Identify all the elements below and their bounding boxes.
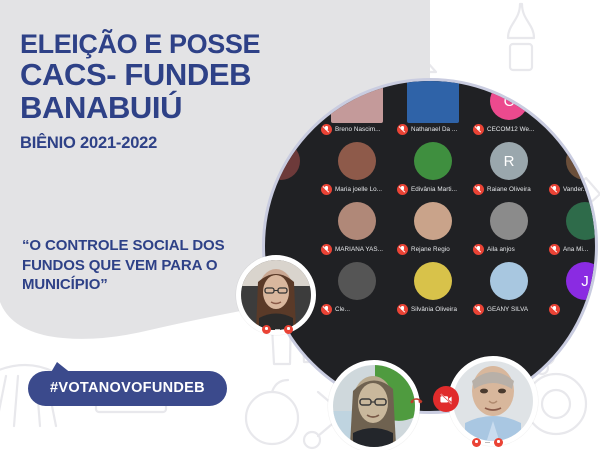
participant-name: Silvânia Oliveira [411, 306, 457, 313]
participant-namebar: MARIANA YAS... [319, 244, 395, 255]
mic-muted-icon [321, 124, 332, 135]
participant-name: Cle... [335, 306, 350, 313]
participant-tile[interactable]: Aila anjos [471, 198, 547, 258]
participant-namebar: Breno Nascim... [319, 124, 395, 135]
participant-tile[interactable]: GEANY SILVA [471, 258, 547, 318]
mic-muted-icon [473, 244, 484, 255]
speaker-bubble-right[interactable] [448, 356, 538, 446]
participant-tile[interactable]: MARIANA YAS... [319, 198, 395, 258]
hashtag-bubble[interactable]: #VOTANOVOFUNDEB [28, 371, 227, 406]
camera-off-icon [439, 392, 453, 406]
participant-name: Aila anjos [487, 246, 515, 253]
mic-muted-icon [549, 184, 560, 195]
participant-namebar: Cle... [319, 304, 395, 315]
mic-muted-icon [321, 184, 332, 195]
speaker-portrait-right [453, 361, 533, 441]
participant-tile[interactable]: Edivânia Marti... [395, 138, 471, 198]
title-block: ELEIÇÃO E POSSE CACS- FUNDEB BANABUIÚ BI… [20, 30, 300, 153]
mic-muted-icon [473, 124, 484, 135]
participant-tile[interactable]: C CECOM12 We... [471, 78, 547, 138]
hangup-button[interactable] [408, 391, 425, 408]
participant-namebar: Silvânia Oliveira [395, 304, 471, 315]
participant-namebar: Raiane Oliveira [471, 184, 547, 195]
poster-canvas: ...ousa Breno Nascim... Nathanael Da ... [0, 0, 600, 450]
participant-name: Raiane Oliveira [487, 186, 531, 193]
camera-off-button[interactable] [433, 386, 459, 412]
hashtag-label: #VOTANOVOFUNDEB [28, 371, 227, 406]
mic-muted-icon [321, 304, 332, 315]
title-line-1: ELEIÇÃO E POSSE [20, 30, 300, 58]
participant-tile[interactable]: Breno Nascim... [319, 78, 395, 138]
participant-avatar [490, 202, 528, 240]
participant-name: Ana Mi... [563, 246, 588, 253]
participant-row: ...ma Maria joelle Lo... Edivânia Marti.… [262, 138, 598, 198]
participant-tile[interactable]: Nathanael Da ... [395, 78, 471, 138]
participant-tile[interactable]: Maria joelle Lo... [319, 138, 395, 198]
participant-avatar [407, 79, 459, 123]
mic-muted-icon [321, 244, 332, 255]
mic-muted-icon [472, 438, 481, 447]
participant-tile[interactable]: J [547, 258, 598, 318]
participant-namebar: Rejane Regio [395, 244, 471, 255]
participant-namebar: Ana Mi... [547, 244, 598, 255]
participant-name: Edivânia Marti... [411, 186, 457, 193]
participant-avatar [566, 202, 598, 240]
participant-tile[interactable]: Cle... [319, 258, 395, 318]
speaker-bubble-left[interactable] [236, 255, 316, 335]
participant-namebar: Aila anjos [471, 244, 547, 255]
camera-muted-icon [284, 325, 293, 334]
participant-name: Nathanael Da ... [411, 126, 457, 133]
participant-name: Vander... [563, 186, 588, 193]
participant-name: Maria joelle Lo... [335, 186, 382, 193]
participant-avatar-initial: R [490, 142, 528, 180]
speaker-portrait-left [241, 260, 311, 330]
participant-namebar: CECOM12 We... [471, 124, 547, 135]
participant-tile[interactable]: Ana Mi... [547, 198, 598, 258]
mic-muted-icon [549, 244, 560, 255]
mic-muted-icon [397, 304, 408, 315]
participant-tile[interactable]: Vander... [547, 138, 598, 198]
participant-namebar [547, 304, 598, 315]
participant-name: Breno Nascim... [335, 126, 381, 133]
title-line-3: BANABUIÚ [20, 92, 300, 124]
participant-avatar [338, 262, 376, 300]
participant-avatar [338, 142, 376, 180]
participant-namebar: Edivânia Marti... [395, 184, 471, 195]
mic-muted-icon [473, 304, 484, 315]
mic-muted-icon [549, 124, 560, 135]
participant-namebar: Nathanael Da ... [395, 124, 471, 135]
mic-muted-icon [549, 304, 560, 315]
participant-namebar: Vander... [547, 184, 598, 195]
participant-avatar [338, 202, 376, 240]
participant-avatar [490, 262, 528, 300]
participant-name: GEANY SILVA [487, 306, 528, 313]
subtitle: BIÊNIO 2021-2022 [20, 134, 300, 153]
participant-avatar [566, 82, 598, 120]
participant-tile[interactable]: Rejane Regio [395, 198, 471, 258]
participant-avatar [414, 202, 452, 240]
participant-name: CECOM12 We... [487, 126, 534, 133]
participant-namebar: Maria joelle Lo... [319, 184, 395, 195]
participant-name: Rejane Regio [411, 246, 450, 253]
participant-namebar [547, 124, 598, 135]
participant-row: MARIANA YAS... Rejane Regio Aila anjos [262, 198, 598, 258]
camera-muted-icon [494, 438, 503, 447]
speaker-right-status-dots [472, 438, 503, 447]
participant-tile[interactable] [547, 78, 598, 138]
participant-name: MARIANA YAS... [335, 246, 383, 253]
participant-avatar [414, 142, 452, 180]
mic-muted-icon [397, 184, 408, 195]
participant-avatar-initial: J [566, 262, 598, 300]
quote-text: “O CONTROLE SOCIAL DOS FUNDOS QUE VEM PA… [22, 236, 254, 295]
speaker-portrait-center [333, 365, 415, 447]
participant-tile[interactable]: Silvânia Oliveira [395, 258, 471, 318]
participant-row: ...ousa Breno Nascim... Nathanael Da ... [262, 78, 598, 138]
video-meeting-grid[interactable]: ...ousa Breno Nascim... Nathanael Da ... [262, 78, 598, 414]
divider-dash [275, 329, 280, 330]
speaker-bubble-center[interactable] [328, 360, 420, 450]
mic-muted-icon [473, 184, 484, 195]
mic-muted-icon [397, 124, 408, 135]
hangup-icon [408, 391, 425, 408]
call-controls [408, 386, 459, 412]
bubble-tail [50, 362, 72, 374]
participant-tile[interactable]: R Raiane Oliveira [471, 138, 547, 198]
participant-avatar [331, 79, 383, 123]
mic-muted-icon [262, 325, 271, 334]
divider-dash [485, 442, 490, 443]
participant-avatar [566, 142, 598, 180]
participant-avatar [414, 262, 452, 300]
participant-avatar-initial: C [490, 82, 528, 120]
mic-muted-icon [397, 244, 408, 255]
title-line-2: CACS- FUNDEB [20, 59, 300, 91]
speaker-left-status-dots [262, 325, 293, 334]
participant-namebar: GEANY SILVA [471, 304, 547, 315]
